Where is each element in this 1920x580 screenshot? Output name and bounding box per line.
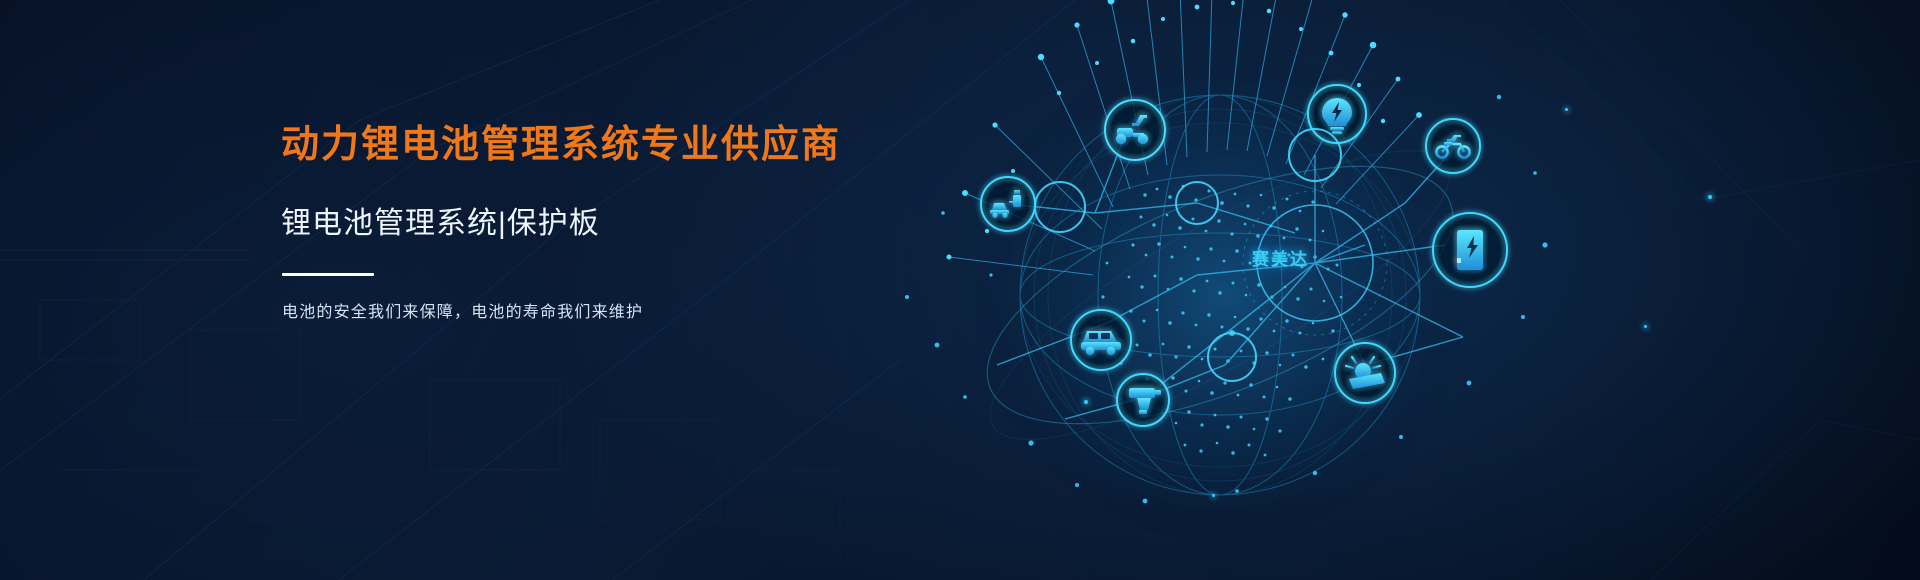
- car-icon: [1071, 310, 1131, 370]
- hero-banner: 动力锂电池管理系统专业供应商 锂电池管理系统|保护板 电池的安全我们来保障，电池…: [0, 0, 1920, 580]
- battery-pack-icon: [1433, 213, 1507, 287]
- ev-charging-car-icon: [981, 177, 1035, 231]
- sparkle-dot: [1084, 400, 1088, 404]
- sparkle-dot: [1708, 195, 1712, 199]
- hero-subtitle: 锂电池管理系统|保护板: [281, 204, 921, 243]
- hero-copy-block: 动力锂电池管理系统专业供应商 锂电池管理系统|保护板 电池的安全我们来保障，电池…: [281, 122, 921, 325]
- network-globe-graphic: [845, 0, 1605, 580]
- sparkle-dot: [1644, 325, 1647, 328]
- solar-lamp-icon: [1335, 343, 1395, 403]
- globe-brandmark: 赛美达: [1252, 245, 1309, 270]
- empty-node-a: [1035, 182, 1085, 232]
- empty-node-b: [1176, 182, 1218, 224]
- empty-node-c: [1208, 333, 1256, 381]
- motorbike-icon: [1426, 119, 1480, 173]
- page-title: 动力锂电池管理系统专业供应商: [281, 122, 921, 170]
- scooter-icon: [1105, 100, 1165, 160]
- empty-node-d: [1289, 129, 1341, 181]
- power-drill-icon: [1117, 374, 1169, 426]
- sparkle-dot: [1212, 494, 1215, 497]
- sparkle-dot: [1565, 108, 1568, 111]
- title-divider: [282, 273, 374, 276]
- hero-tagline: 电池的安全我们来保障，电池的寿命我们来维护: [282, 300, 921, 326]
- lightbulb-bolt-icon: [1308, 85, 1366, 143]
